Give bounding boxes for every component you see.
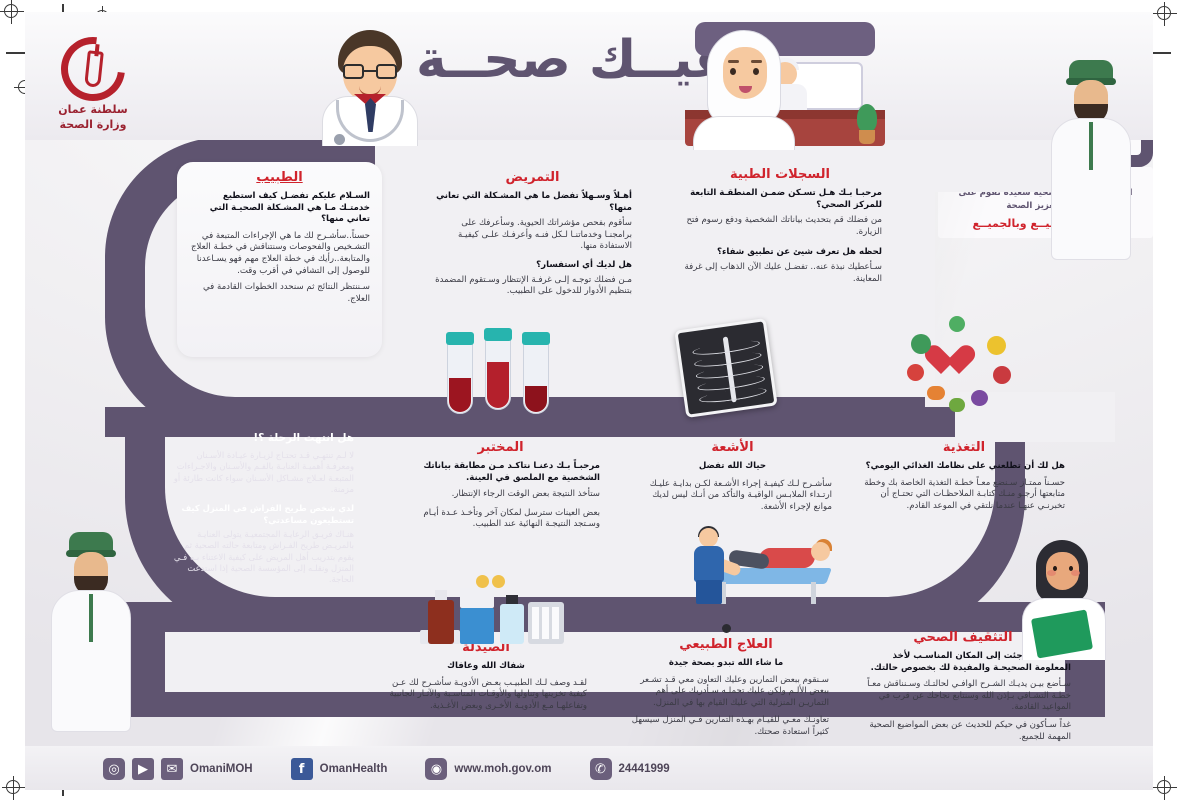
section-card-doctor: الطبيب السـلام عليكم تفضـل كيف استطيع خد… — [177, 162, 382, 357]
male-doctor-illustration — [310, 30, 430, 142]
website-url: www.moh.gov.om — [454, 763, 551, 775]
pill-round-2 — [492, 575, 505, 588]
lab-answer-2: بعض العينات سترسل لمكان آخر وتأخـذ عـدة … — [401, 508, 600, 531]
registration-mark-tr — [1157, 6, 1171, 20]
eye-right — [1069, 566, 1073, 571]
footer-band: ◎ ▶ ✉ OmaniMOH f OmanHealth ◉ www.moh.go… — [25, 746, 1153, 790]
education-answer-1: سـأضع بيـن يديـك الشـرح الوافـي لحالتـك … — [855, 679, 1071, 714]
records-question-2: لحظه هل تعرف شيئ عن تطبيق شفاء؟ — [678, 247, 882, 259]
liquid-bottle — [500, 604, 524, 644]
section-title-nursing: التمريض — [433, 170, 632, 185]
nurse-eye-right — [753, 68, 759, 75]
section-title-nutrition: التغذية — [863, 440, 1065, 455]
food-grapes — [971, 390, 988, 406]
registration-mark-tl — [4, 4, 18, 18]
section-card-pharmacy: الصيدلة شفاك الله وعافاك لقـد وصف لـك ال… — [377, 640, 595, 712]
connector-dot — [722, 624, 731, 633]
test-tube-1 — [447, 342, 473, 414]
physiotherapy-illustration — [685, 522, 835, 608]
physio-answer-1: سـنقوم ببعض التمارين وعليك التعاون معي ق… — [623, 675, 829, 710]
section-title-xray: الأشعة — [633, 440, 832, 455]
heart-icon — [941, 346, 975, 378]
physio-question-1: ما شاء الله تبدو بصحة جيدة — [623, 658, 829, 670]
food-apple — [993, 366, 1011, 384]
nursing-question-1: أهـلاً وسـهلاً تفضل ما هي المشـكلة التي … — [433, 191, 632, 214]
page-title: وعيــك صحــة — [25, 30, 1153, 90]
therapist-pants — [696, 580, 722, 604]
syrup-bottle — [428, 600, 454, 644]
logo-text: سلطنة عمان وزارة الصحة — [33, 103, 153, 133]
food-carrot — [927, 386, 945, 400]
poster-canvas: وعيــك صحــة سلطنة عمان وزارة الصحة — [25, 12, 1153, 790]
cheek-right — [1071, 570, 1080, 576]
logo-line-1: سلطنة عمان — [33, 103, 153, 118]
test-tube-2 — [485, 338, 511, 410]
journey-answer-2: هنـاك فريـق الرعايـة المجتمعيـة يتولى ال… — [167, 529, 354, 586]
therapist-figure — [691, 528, 727, 598]
omani-man-illustration-right — [1043, 60, 1139, 260]
nutrition-answer-1: حسـناً ممتـاز سـنضع معـاً خطـة التغذية ا… — [863, 478, 1065, 513]
section-title-records: السجلات الطبية — [678, 167, 882, 182]
food-avocado — [949, 398, 965, 412]
medicines-illustration — [420, 560, 580, 644]
patient-head — [811, 542, 830, 561]
records-answer-2: سـأعطيك نبذة عنه.. تفضـل عليك الآن الذها… — [678, 262, 882, 285]
plant-leaves — [857, 104, 877, 132]
section-card-physiotherapy: العلاج الطبيعي ما شاء الله تبدو بصحة جيد… — [615, 637, 837, 739]
nurse-brow-left — [728, 60, 739, 63]
lab-answer-1: ستأخذ النتيجة بعض الوقت الرجاء الإنتظار. — [401, 489, 600, 501]
therapist-top — [694, 546, 724, 582]
nutrition-question-1: هل لك أن تطلعني على نظامك الغذائي اليومي… — [863, 461, 1065, 473]
lab-question-1: مرحبـاً بـك دعنـا نتاكـد مـن مطابقة بيان… — [401, 461, 600, 484]
food-broccoli — [911, 334, 931, 354]
section-title-lab: المختبر — [401, 440, 600, 455]
stethoscope-bell — [334, 134, 345, 145]
nursing-answer-1: سأقوم بفحص مؤشراتك الحيوية. وسأعرفك على … — [433, 218, 632, 253]
dishdasha-tassel — [89, 594, 93, 642]
plant-icon — [855, 100, 879, 144]
healthy-food-illustration — [905, 312, 1015, 416]
records-question-1: مرحبـا بـك هـل تسـكن ضمـن المنطقـة التاب… — [678, 188, 882, 211]
contact-phone: 24441999 — [619, 763, 670, 775]
section-card-radiology: الأشعة حياك الله تفضل سأشـرح لـك كيفيـة … — [625, 440, 840, 513]
glasses-icon — [343, 64, 397, 79]
nurse-coat — [693, 116, 795, 150]
food-lemon — [987, 336, 1006, 355]
section-card-nursing: التمريض أهـلاً وسـهلاً تفضل ما هي المشـك… — [425, 170, 640, 298]
doctor-answer-2: سـننتظر النتائج ثم سنحدد الخطوات القادمة… — [189, 282, 370, 305]
blood-test-tubes-illustration — [445, 324, 565, 414]
section-title-journey: هل انتهت الرحلة ؟! — [167, 432, 354, 444]
logo-line-2: وزارة الصحة — [33, 118, 153, 133]
section-title-doctor: الطبيب — [189, 170, 370, 185]
nursing-question-2: هل لديك أي استفسار؟ — [433, 260, 632, 272]
section-card-journey-end: هل انتهت الرحلة ؟! لا لـم تنتهـي قـد تحت… — [153, 424, 368, 594]
xray-question-1: حياك الله تفضل — [633, 461, 832, 473]
female-nurse-illustration — [685, 30, 803, 142]
youtube-icon[interactable]: ▶ — [132, 758, 154, 780]
social-media-bar: ◎ ▶ ✉ OmaniMOH f OmanHealth ◉ www.moh.go… — [103, 758, 680, 780]
pharmacy-answer-1: لقـد وصف لـك الطبيـب بعـض الأدويـة سأشـر… — [385, 678, 587, 713]
records-answer-1: من فضلك قم بتحديث بياناتك الشخصية ودفع ر… — [678, 215, 882, 238]
whatsapp-icon[interactable]: ✆ — [590, 758, 612, 780]
section-title-physio: العلاج الطبيعي — [623, 637, 829, 652]
education-answer-2: غداً سـأكون في حيكم للحديث عن بعض المواض… — [855, 720, 1071, 743]
journey-question-2: لدي شخص طريح الفراش في المنزل كيف تستطيع… — [167, 503, 354, 526]
social-handle-omanimoh: OmaniMOH — [190, 763, 253, 775]
registration-mark-br — [1157, 780, 1171, 794]
plant-pot — [859, 130, 875, 144]
facebook-icon[interactable]: f — [291, 758, 313, 780]
print-sheet: وعيــك صحــة سلطنة عمان وزارة الصحة — [0, 0, 1177, 800]
website-icon[interactable]: ◉ — [425, 758, 447, 780]
pill-round-1 — [476, 575, 489, 588]
doctor-answer-1: حسناً..سأشـرح لك ما هي الإجراءات المتبعة… — [189, 231, 370, 277]
test-tube-3 — [523, 342, 549, 414]
instagram-icon[interactable]: ◎ — [103, 758, 125, 780]
nurse-eye-left — [730, 68, 736, 75]
registration-mark-bl — [6, 780, 20, 794]
eye-left — [1053, 566, 1057, 571]
xray-film-illustration — [674, 318, 777, 418]
physio-answer-2: تعاونـك معـي للقيـام بهـذه التمارين فـي … — [623, 715, 829, 738]
omani-man-illustration-left — [43, 532, 139, 732]
therapist-head — [699, 528, 718, 547]
moh-logo: سلطنة عمان وزارة الصحة — [33, 37, 153, 142]
social-handle-omanhealth: OmanHealth — [320, 763, 388, 775]
twitter-icon[interactable]: ✉ — [161, 758, 183, 780]
section-card-nutrition: التغذية هل لك أن تطلعني على نظامك الغذائ… — [855, 440, 1073, 512]
bed-leg-right — [811, 582, 816, 604]
food-tomato — [907, 364, 924, 381]
nurse-brow-right — [751, 60, 762, 63]
section-card-medical-records: السجلات الطبية مرحبـا بـك هـل تسـكن ضمـن… — [670, 167, 890, 285]
medicine-box-top — [460, 588, 494, 608]
nursing-answer-2: مـن فضلك توجـه إلـى غرفـة الإنتظار وسـتق… — [433, 275, 632, 298]
dishdasha-tassel — [1089, 122, 1093, 170]
pharmacy-question-1: شفاك الله وعافاك — [385, 661, 587, 673]
female-doctor-illustration — [1010, 540, 1120, 660]
food-pepper — [949, 316, 965, 332]
medicine-box — [460, 608, 494, 644]
section-card-laboratory: المختبر مرحبـاً بـك دعنـا نتاكـد مـن مطا… — [393, 440, 608, 531]
journey-answer-1: لا لـم تنتهـي قـد تحتـاج لزيـارة عيـادة … — [167, 450, 354, 495]
doctor-question-1: السـلام عليكم تفضـل كيف استطيع خدمتـك مـ… — [189, 191, 370, 226]
xray-answer-1: سأشـرح لـك كيفيـة إجراء الأشـعة لكـن بدا… — [633, 479, 832, 514]
blister-pack — [528, 602, 564, 644]
